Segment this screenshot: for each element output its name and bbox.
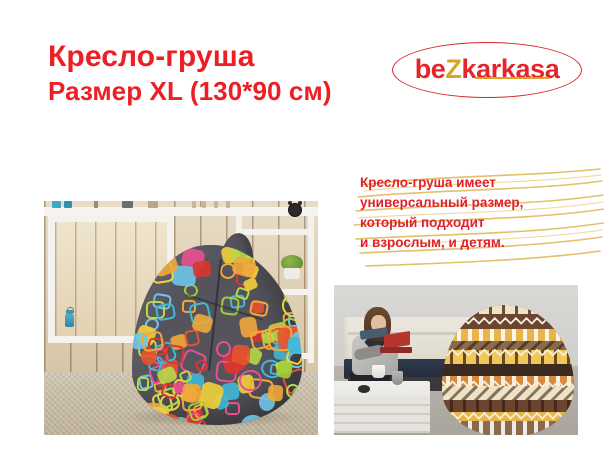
poster-canvas: Кресло-груша Размер XL (130*90 см) beZka… xyxy=(0,0,610,456)
pattern-shape xyxy=(155,303,176,322)
laptop-icon xyxy=(380,333,412,353)
beanbag-pattern xyxy=(132,245,302,425)
promo-line-4: и взрослым, и детям. xyxy=(360,233,600,253)
promo-text: Кресло-груша имеет универсальный размер,… xyxy=(360,173,600,253)
promo-block: Кресло-груша имеет универсальный размер,… xyxy=(360,173,600,271)
product-photo-ethnic-beanbag xyxy=(334,285,578,435)
pattern-shape xyxy=(183,384,201,403)
mug-icon xyxy=(372,365,385,378)
logo-wordmark: beZkarkasa xyxy=(392,54,582,85)
pattern-shape xyxy=(239,412,265,425)
promo-line-1: Кресло-груша имеет xyxy=(360,173,600,193)
product-photo-grey-beanbag xyxy=(44,201,318,435)
brand-logo[interactable]: beZkarkasa xyxy=(392,42,582,98)
pattern-shape xyxy=(288,337,302,354)
zigzag-motif xyxy=(442,305,574,435)
logo-accent-letter: Z xyxy=(445,54,461,84)
promo-line-2: универсальный размер, xyxy=(360,193,600,213)
page-title: Кресло-груша Размер XL (130*90 см) xyxy=(48,40,332,106)
pattern-shape xyxy=(292,249,302,267)
ethnic-beanbag xyxy=(442,305,574,435)
metal-cup xyxy=(392,371,403,385)
grey-beanbag xyxy=(132,245,302,425)
pattern-shape xyxy=(163,344,184,366)
logo-accent-underline xyxy=(475,77,549,79)
pattern-shape xyxy=(184,329,201,347)
pattern-shape xyxy=(267,384,283,401)
ethnic-beanbag-bands xyxy=(442,305,574,435)
pattern-shape xyxy=(195,359,210,374)
lantern-icon xyxy=(64,309,75,329)
alarm-clock-icon xyxy=(288,203,302,217)
pattern-shape xyxy=(136,377,149,392)
logo-text-before: be xyxy=(415,54,446,84)
title-line-1: Кресло-груша xyxy=(48,40,332,75)
pallet-coffee-table xyxy=(334,381,430,433)
logo-text-after: karkasa xyxy=(462,54,560,84)
pattern-shape xyxy=(192,260,212,278)
pattern-shape xyxy=(225,361,240,375)
promo-line-3: который подходит xyxy=(360,213,600,233)
title-line-2: Размер XL (130*90 см) xyxy=(48,76,332,106)
bowl xyxy=(358,385,370,393)
